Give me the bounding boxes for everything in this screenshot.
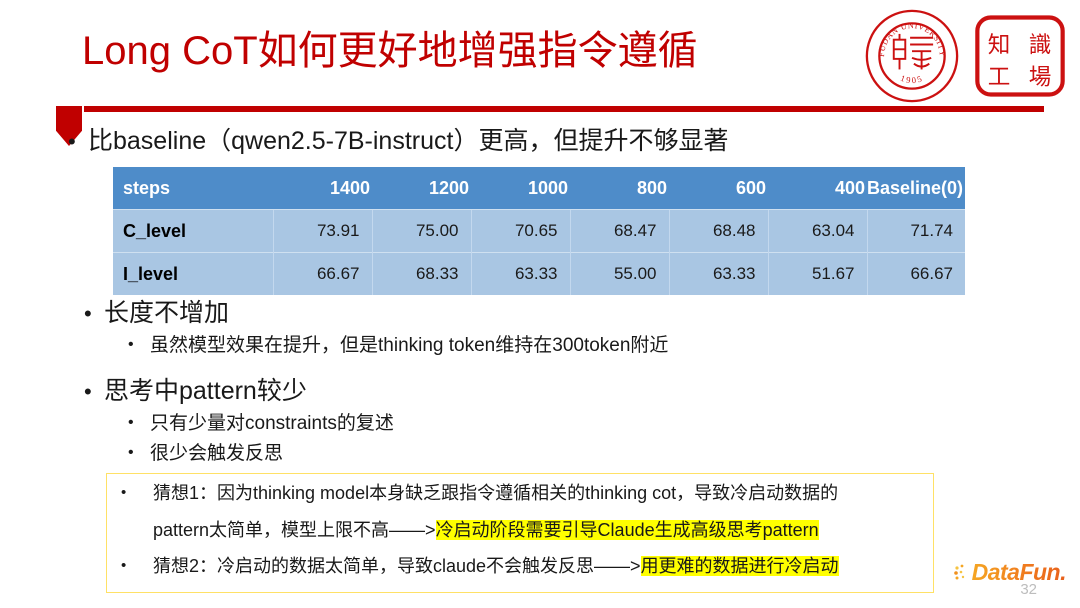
cell-i-600: 63.33	[669, 253, 768, 296]
row-label-c-level: C_level	[113, 210, 273, 253]
cell-c-600: 68.48	[669, 210, 768, 253]
cell-c-1000: 70.65	[471, 210, 570, 253]
page-title: Long CoT如何更好地增强指令遵循	[82, 28, 698, 74]
bullet-marker: •	[84, 301, 104, 327]
cell-c-baseline: 71.74	[867, 210, 965, 253]
svg-text:識: 識	[1029, 33, 1052, 59]
datafun-wordmark: DataFun.	[972, 559, 1066, 586]
cell-c-1400: 73.91	[273, 210, 372, 253]
hypothesis-2-line: •猜想2：冷启动的数据太简单，导致claude不会触发反思——>用更难的数据进行…	[121, 556, 839, 578]
title-underline-bar	[84, 106, 1044, 112]
table-header-steps: steps	[113, 167, 273, 210]
logo-group: FUDAN UNIVERSITY 1905 知 識	[864, 8, 1066, 104]
cell-i-1200: 68.33	[372, 253, 471, 296]
bullet-marker: •	[128, 443, 150, 462]
table-header-400: 400	[768, 167, 867, 210]
bullet-level1-text: 长度不增加	[104, 299, 229, 327]
hypothesis-2-conclusion-highlight: 用更难的数据进行冷启动	[641, 556, 839, 576]
bullet-marker: •	[84, 379, 104, 405]
table-header-1000: 1000	[471, 167, 570, 210]
bullet-level2-text: 只有少量对constraints的复述	[150, 413, 394, 434]
cell-i-baseline: 66.67	[867, 253, 965, 296]
knowledge-works-stamp-icon: 知 識 工 場	[974, 14, 1066, 98]
hypothesis-1-text-a: 猜想1：因为thinking model本身缺乏跟指令遵循相关的thinking…	[153, 483, 838, 503]
table-header-600: 600	[669, 167, 768, 210]
hypothesis-note-box: •猜想1：因为thinking model本身缺乏跟指令遵循相关的thinkin…	[106, 473, 934, 593]
svg-text:1905: 1905	[899, 73, 925, 85]
bullet-level2-reflection: •很少会触发反思	[128, 443, 283, 466]
bullet-marker: •	[68, 129, 88, 155]
bullet-level2-token-length: •虽然模型效果在提升，但是thinking token维持在300token附近	[128, 335, 668, 358]
bullet-level2-constraints: •只有少量对constraints的复述	[128, 413, 394, 436]
table-header-800: 800	[570, 167, 669, 210]
results-table: steps 1400 1200 1000 800 600 400 Baselin…	[113, 167, 965, 295]
cell-i-1400: 66.67	[273, 253, 372, 296]
bullet-marker: •	[128, 335, 150, 354]
table-header-1400: 1400	[273, 167, 372, 210]
cell-c-400: 63.04	[768, 210, 867, 253]
cell-i-1000: 63.33	[471, 253, 570, 296]
bullet-level1-baseline: •比baseline（qwen2.5-7B-instruct）更高，但提升不够显…	[68, 126, 728, 156]
svg-text:工: 工	[988, 64, 1011, 90]
bullet-level2-text: 很少会触发反思	[150, 443, 283, 464]
hypothesis-1-text-b: pattern太简单，模型上限不高——>	[153, 520, 436, 540]
bullet-level1-pattern: •思考中pattern较少	[84, 376, 307, 406]
bullet-marker: •	[121, 484, 153, 502]
bullet-marker: •	[121, 557, 153, 575]
row-label-i-level: I_level	[113, 253, 273, 296]
table-body: C_level 73.91 75.00 70.65 68.47 68.48 63…	[113, 210, 965, 296]
bullet-level1-text: 思考中pattern较少	[104, 377, 307, 405]
hypothesis-1-line-1: •猜想1：因为thinking model本身缺乏跟指令遵循相关的thinkin…	[121, 483, 838, 505]
table-header: steps 1400 1200 1000 800 600 400 Baselin…	[113, 167, 965, 210]
bullet-level1-length: •长度不增加	[84, 298, 229, 328]
hypothesis-2-text: 猜想2：冷启动的数据太简单，导致claude不会触发反思——>	[153, 556, 641, 576]
datafun-dots-icon	[953, 562, 969, 584]
slide-canvas: Long CoT如何更好地增强指令遵循 FUDAN UNIVERSITY 190…	[0, 0, 1080, 608]
hypothesis-1-conclusion-highlight: 冷启动阶段需要引导Claude生成高级思考pattern	[436, 520, 819, 540]
cell-i-400: 51.67	[768, 253, 867, 296]
table-header-1200: 1200	[372, 167, 471, 210]
bullet-level2-text: 虽然模型效果在提升，但是thinking token维持在300token附近	[150, 335, 668, 356]
datafun-logo: DataFun.	[953, 559, 1066, 586]
svg-text:知: 知	[988, 33, 1011, 59]
bullet-level1-text: 比baseline（qwen2.5-7B-instruct）更高，但提升不够显著	[88, 127, 728, 155]
cell-i-800: 55.00	[570, 253, 669, 296]
table-row: C_level 73.91 75.00 70.65 68.47 68.48 63…	[113, 210, 965, 253]
cell-c-1200: 75.00	[372, 210, 471, 253]
table-header-row: steps 1400 1200 1000 800 600 400 Baselin…	[113, 167, 965, 210]
svg-text:場: 場	[1029, 64, 1052, 90]
table-row: I_level 66.67 68.33 63.33 55.00 63.33 51…	[113, 253, 965, 296]
table-header-baseline: Baseline(0)	[867, 167, 965, 210]
fudan-university-seal-icon: FUDAN UNIVERSITY 1905	[864, 8, 960, 104]
hypothesis-1-line-2: pattern太简单，模型上限不高——>冷启动阶段需要引导Claude生成高级思…	[153, 520, 819, 542]
bullet-marker: •	[128, 413, 150, 432]
cell-c-800: 68.47	[570, 210, 669, 253]
